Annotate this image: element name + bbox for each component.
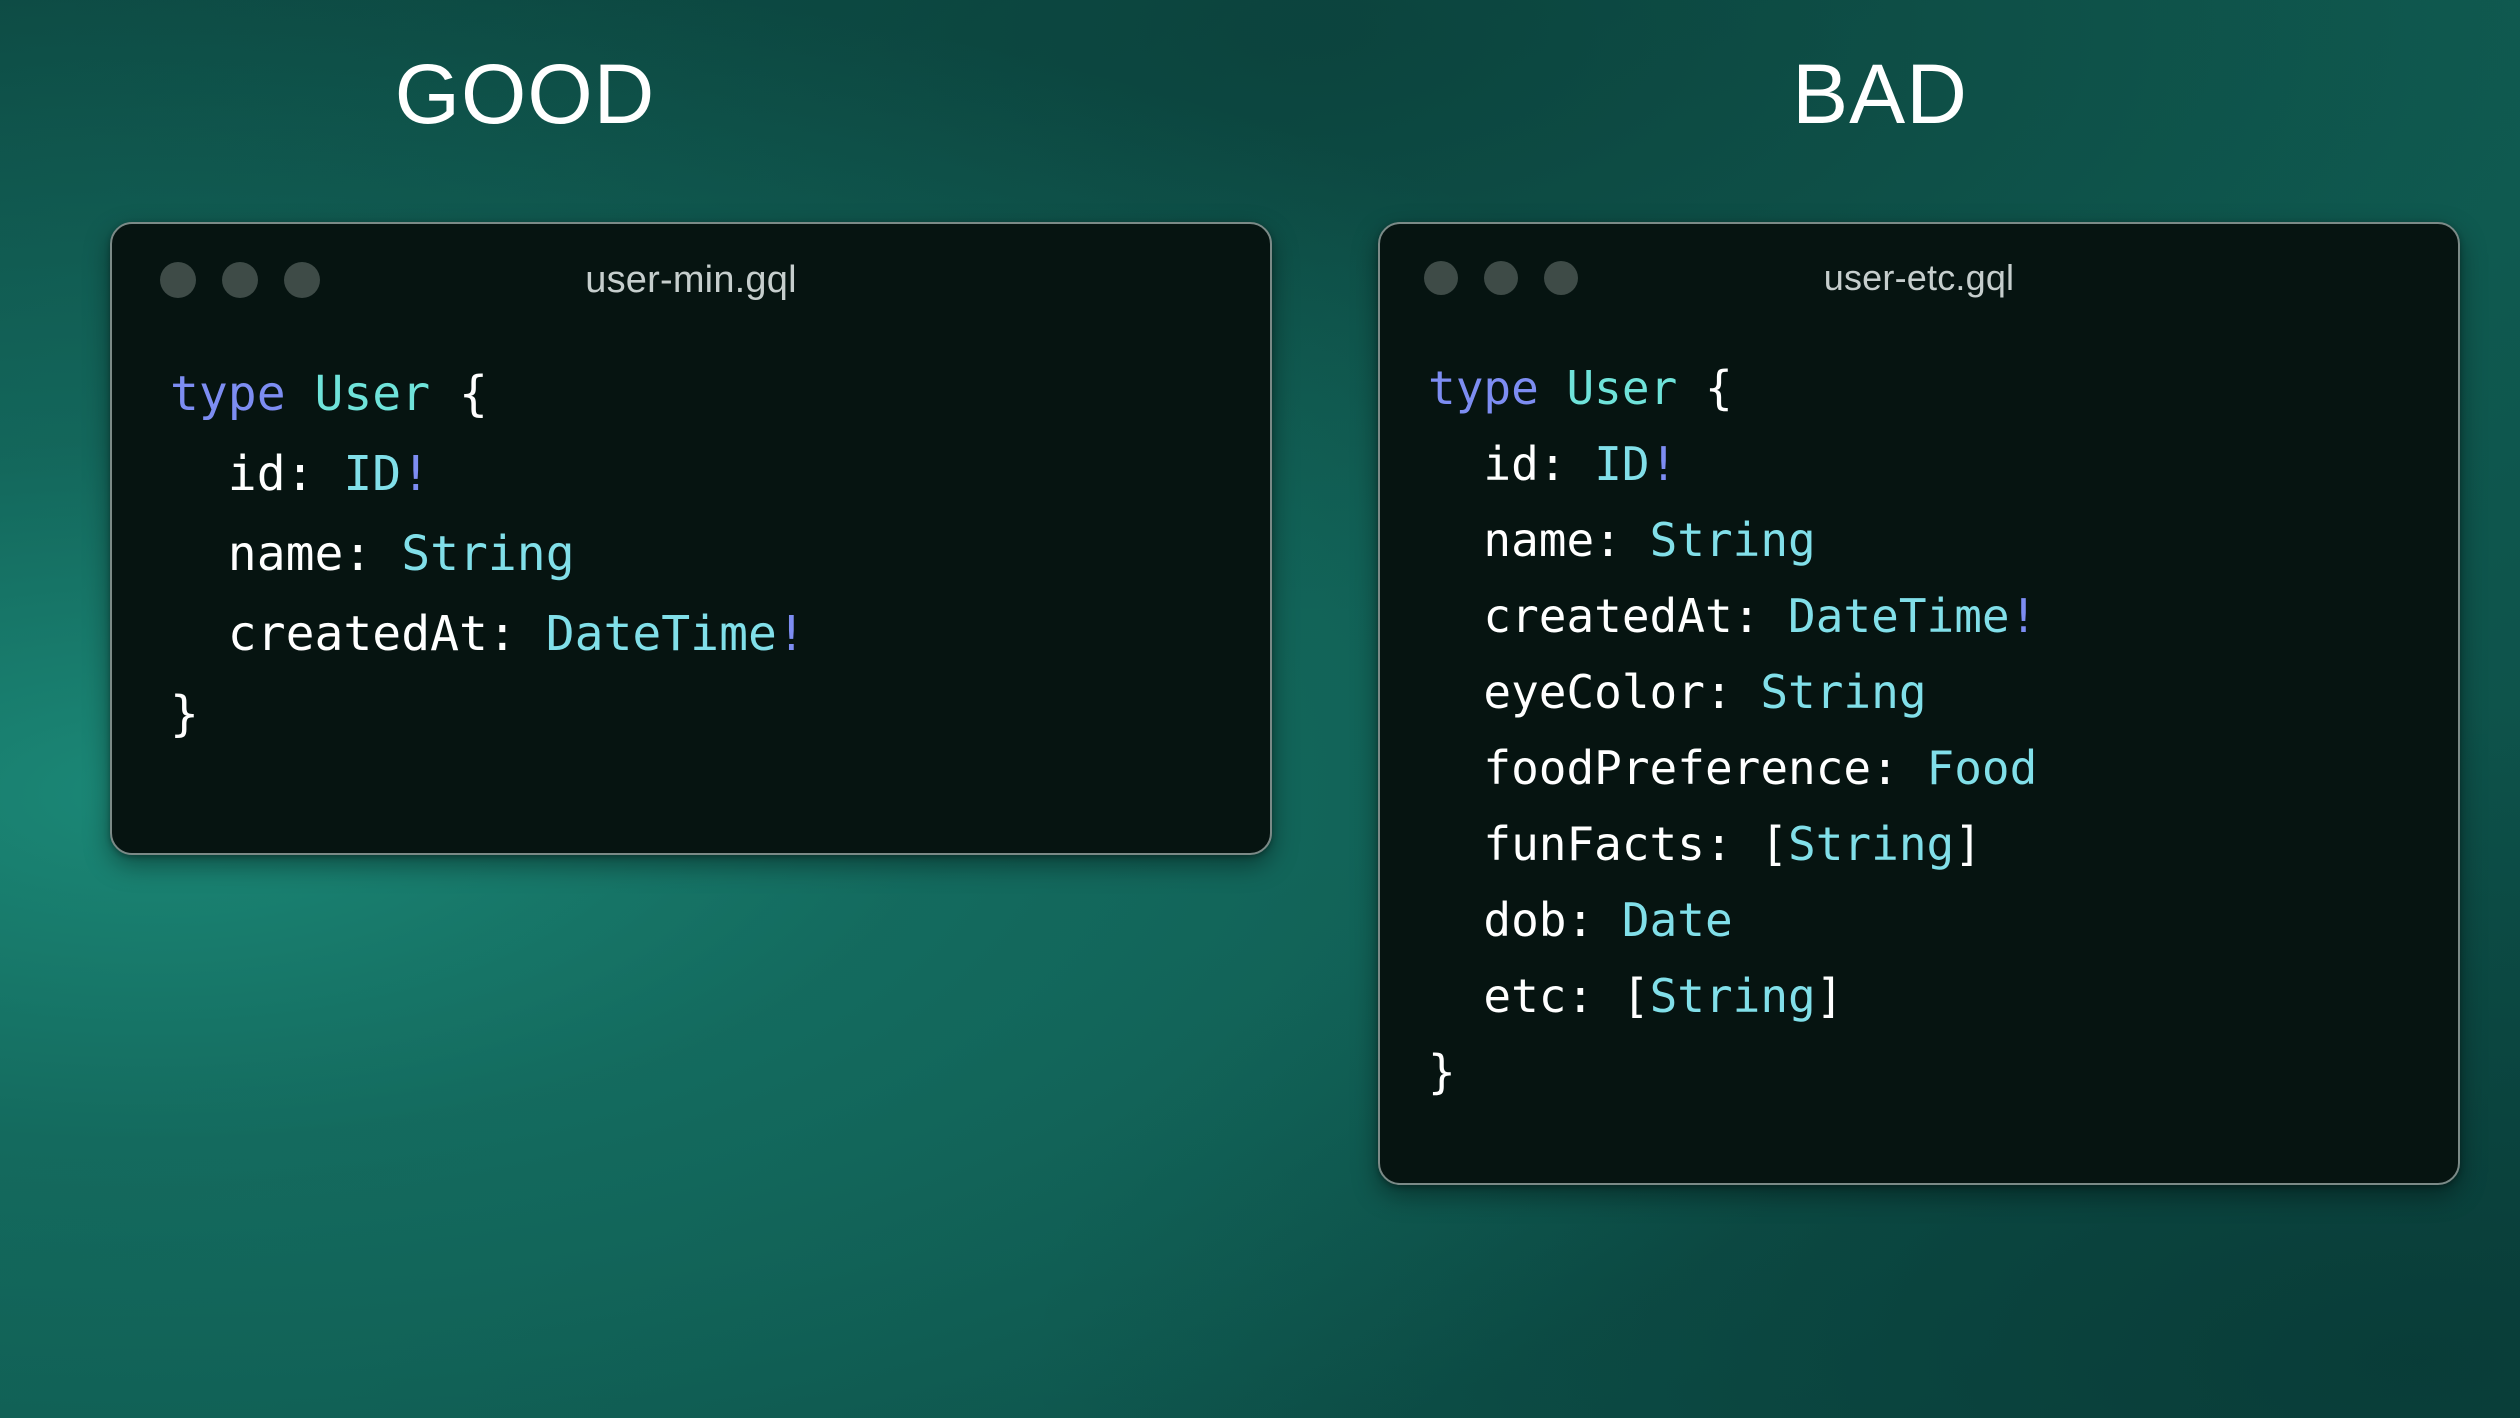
column-heading-good: GOOD [330,52,720,136]
minimize-dot-icon[interactable] [1484,261,1518,295]
column-heading-bad: BAD [1610,52,2150,136]
code-token-field: createdAt: [1483,589,1760,643]
code-token-field: createdAt: [228,606,517,662]
code-token-type: String [1650,513,1816,567]
code-token-bang: ! [1650,437,1678,491]
code-window-titlebar: user-etc.gql [1380,224,2458,332]
window-controls [160,262,320,298]
code-token-type: String [401,526,574,582]
slide-canvas: GOOD user-min.gql type User { id: ID! na… [0,0,2520,1418]
code-window-titlebar: user-min.gql [112,224,1270,336]
code-token-field: eyeColor: [1483,665,1732,719]
code-token-bang: ! [401,446,430,502]
code-token-type: DateTime [546,606,777,662]
code-token-punct: { [1705,361,1733,415]
code-token-punct: { [459,366,488,422]
maximize-dot-icon[interactable] [1544,261,1578,295]
window-controls [1424,261,1578,295]
code-token-field: dob: [1483,893,1594,947]
code-token-type: DateTime [1788,589,2010,643]
code-line: type User { [1428,350,2458,426]
code-token-bang: ! [2010,589,2038,643]
code-token-type: String [1760,665,1926,719]
code-line: funFacts: [String] [1428,806,2458,882]
code-line: eyeColor: String [1428,654,2458,730]
code-token-typename: User [315,366,431,422]
code-line: dob: Date [1428,882,2458,958]
code-token-type: Date [1622,893,1733,947]
code-token-field: id: [1483,437,1566,491]
code-token-type: ID [343,446,401,502]
code-token-punct: [ [1622,969,1650,1023]
code-token-type: ID [1594,437,1649,491]
code-line: } [1428,1034,2458,1110]
code-token-field: funFacts: [1483,817,1732,871]
code-window-bad: user-etc.gql type User { id: ID! name: S… [1378,222,2460,1185]
code-token-field: etc: [1483,969,1594,1023]
code-token-type: Food [1927,741,2038,795]
code-token-type: String [1788,817,1954,871]
code-token-keyword: type [170,366,286,422]
code-block-bad: type User { id: ID! name: String created… [1380,332,2458,1110]
code-line: id: ID! [170,434,1270,514]
code-line: id: ID! [1428,426,2458,502]
code-line: name: String [170,514,1270,594]
code-token-field: name: [228,526,373,582]
close-dot-icon[interactable] [1424,261,1458,295]
code-block-good: type User { id: ID! name: String created… [112,336,1270,754]
code-line: type User { [170,354,1270,434]
code-token-field: id: [228,446,315,502]
code-token-bang: ! [777,606,806,662]
code-line: createdAt: DateTime! [170,594,1270,674]
code-line: } [170,674,1270,754]
minimize-dot-icon[interactable] [222,262,258,298]
code-line: etc: [String] [1428,958,2458,1034]
code-token-punct: ] [1816,969,1844,1023]
code-token-keyword: type [1428,361,1539,415]
code-token-typename: User [1566,361,1677,415]
code-token-punct: } [1428,1045,1456,1099]
code-line: name: String [1428,502,2458,578]
code-token-punct: } [170,686,199,742]
code-line: foodPreference: Food [1428,730,2458,806]
code-token-field: foodPreference: [1483,741,1898,795]
code-line: createdAt: DateTime! [1428,578,2458,654]
code-window-good: user-min.gql type User { id: ID! name: S… [110,222,1272,855]
code-token-punct: [ [1760,817,1788,871]
close-dot-icon[interactable] [160,262,196,298]
code-token-punct: ] [1954,817,1982,871]
maximize-dot-icon[interactable] [284,262,320,298]
code-token-field: name: [1483,513,1621,567]
code-token-type: String [1650,969,1816,1023]
